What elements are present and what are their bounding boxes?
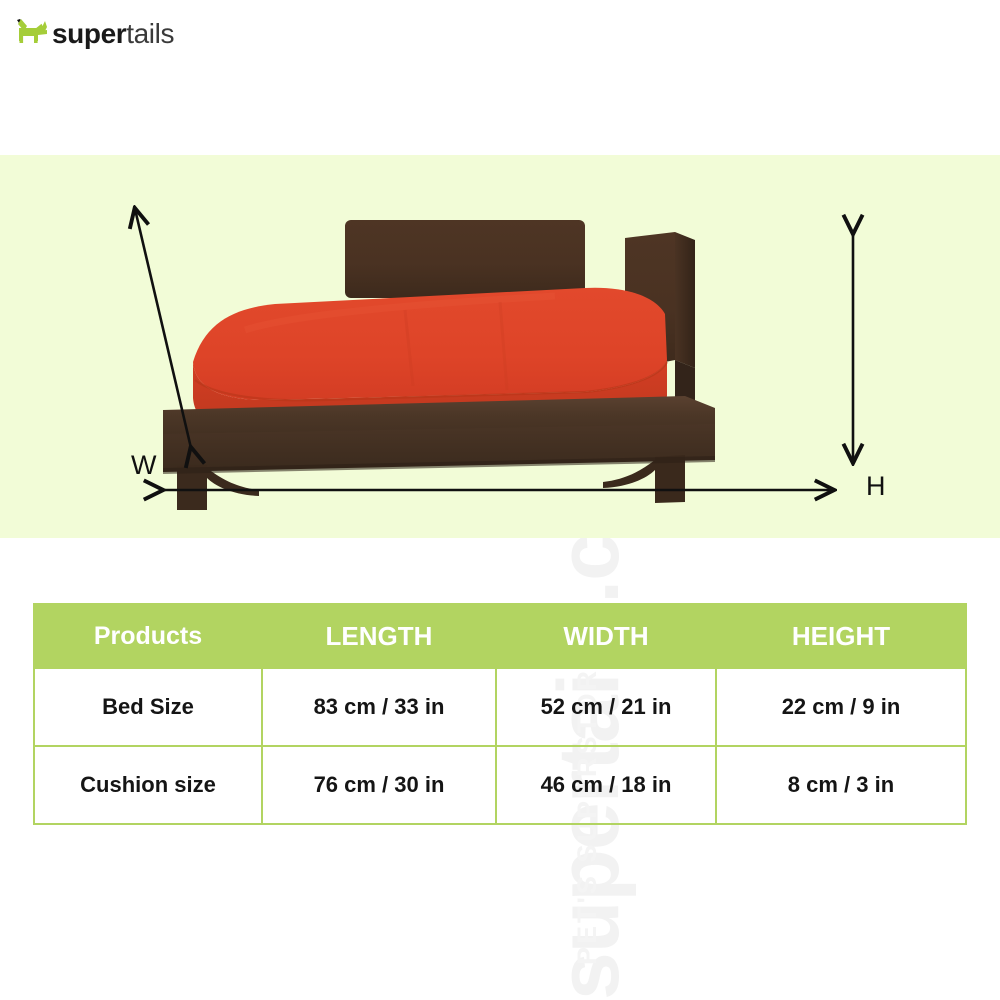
brand-name-light: tails	[126, 18, 174, 49]
table-header-row: Products LENGTH WIDTH HEIGHT	[34, 604, 966, 668]
brand-logo[interactable]: supertails	[14, 12, 174, 56]
column-header-length: LENGTH	[262, 604, 496, 668]
size-chart-table: Products LENGTH WIDTH HEIGHT Bed Size 83…	[33, 603, 967, 825]
cell-product-name: Cushion size	[34, 746, 262, 824]
cell-product-name: Bed Size	[34, 668, 262, 746]
bed-graphic	[155, 210, 845, 510]
table-row: Cushion size 76 cm / 30 in 46 cm / 18 in…	[34, 746, 966, 824]
brand-wordmark: supertails	[52, 20, 174, 48]
width-dimension-label: W	[131, 452, 156, 479]
cell-height: 8 cm / 3 in	[716, 746, 966, 824]
dog-icon	[14, 18, 48, 50]
product-hero-panel: W H L	[0, 155, 1000, 538]
cell-width: 46 cm / 18 in	[496, 746, 716, 824]
column-header-products: Products	[34, 604, 262, 668]
brand-name-bold: super	[52, 18, 126, 49]
column-header-width: WIDTH	[496, 604, 716, 668]
dog-bed-illustration	[155, 210, 845, 510]
cell-width: 52 cm / 21 in	[496, 668, 716, 746]
cell-length: 83 cm / 33 in	[262, 668, 496, 746]
cell-height: 22 cm / 9 in	[716, 668, 966, 746]
column-header-height: HEIGHT	[716, 604, 966, 668]
cell-length: 76 cm / 30 in	[262, 746, 496, 824]
table-row: Bed Size 83 cm / 33 in 52 cm / 21 in 22 …	[34, 668, 966, 746]
height-dimension-label: H	[866, 473, 886, 500]
